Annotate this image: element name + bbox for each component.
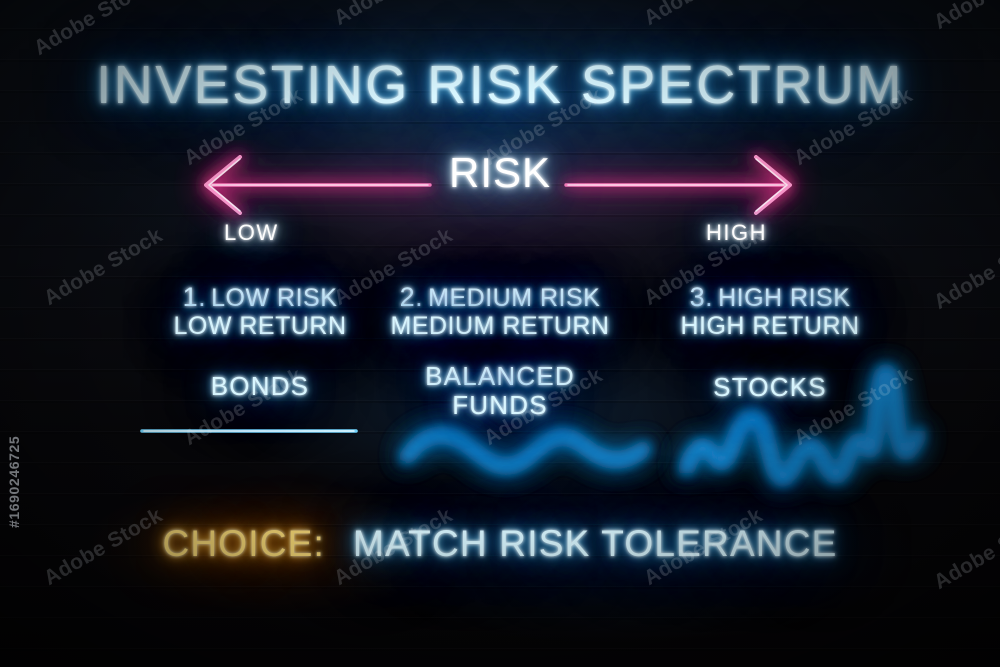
watermark-tile: Adobe Stock	[40, 504, 167, 591]
watermark-tile: Adobe Stock	[640, 504, 767, 591]
watermark-tile: Adobe Stock	[640, 0, 767, 31]
poster-canvas: INVESTING RISK SPECTRUM RISK LOW HIGH 1.…	[0, 0, 1000, 667]
watermark-tile: Adobe Stock	[790, 84, 917, 171]
watermark-asset-id: #1690246725	[6, 436, 22, 528]
watermark-tile: Adobe Stock	[330, 0, 457, 31]
watermark-tile: Adobe Stock	[640, 224, 767, 311]
watermark-tile: Adobe Stock	[30, 0, 157, 61]
watermark-tile: Adobe Stock	[930, 0, 1000, 35]
watermark-tile: Adobe Stock	[790, 364, 917, 451]
watermark-layer: Adobe Stock Adobe Stock Adobe Stock Adob…	[0, 0, 1000, 667]
watermark-tile: Adobe Stock	[40, 224, 167, 311]
watermark-tile: Adobe Stock	[930, 228, 1000, 315]
watermark-tile: Adobe Stock	[180, 84, 307, 171]
watermark-tile: Adobe Stock	[480, 84, 607, 171]
watermark-tile: Adobe Stock	[330, 224, 457, 311]
watermark-tile: Adobe Stock	[480, 364, 607, 451]
watermark-tile: Adobe Stock	[930, 508, 1000, 595]
watermark-tile: Adobe Stock	[180, 364, 307, 451]
watermark-tile: Adobe Stock	[330, 504, 457, 591]
